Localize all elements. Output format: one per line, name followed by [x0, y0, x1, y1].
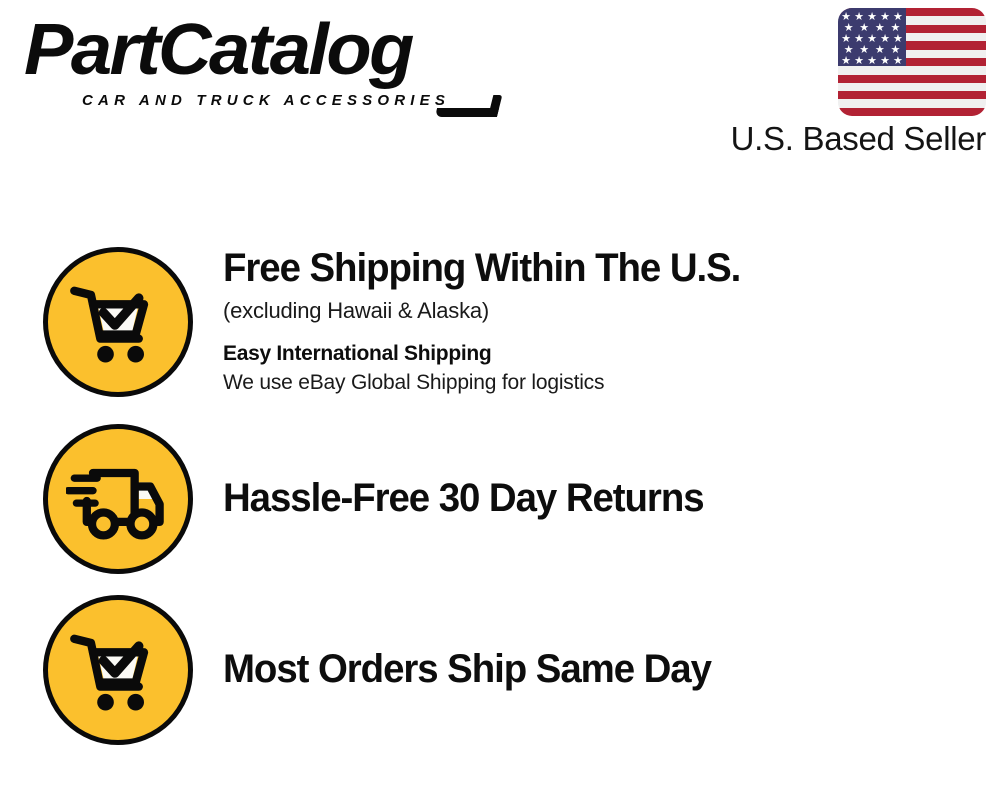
- feature-description: We use eBay Global Shipping for logistic…: [223, 369, 980, 397]
- feature-title: Free Shipping Within The U.S.: [223, 247, 950, 290]
- us-based-seller-badge: ★★★★★ ★★★★ ★★★★★ ★★★★ ★★★★★ U.S. Based S…: [706, 8, 986, 158]
- shopping-cart-check-icon: [66, 618, 170, 722]
- logo-swash-decoration: [435, 108, 499, 117]
- feature-text-block: Free Shipping Within The U.S. (excluding…: [223, 247, 1000, 398]
- feature-text-block: Hassle-Free 30 Day Returns: [223, 477, 1000, 520]
- flag-canton: ★★★★★ ★★★★ ★★★★★ ★★★★ ★★★★★: [838, 8, 906, 66]
- feature-subtitle: Easy International Shipping: [223, 340, 980, 367]
- shopping-cart-check-icon: [66, 270, 170, 374]
- brand-logo[interactable]: PartCatalog CAR AND TRUCK ACCESSORIES: [24, 20, 494, 115]
- feature-row: Most Orders Ship Same Day: [0, 584, 1000, 755]
- us-based-seller-label: U.S. Based Seller: [706, 120, 986, 158]
- us-flag-icon: ★★★★★ ★★★★ ★★★★★ ★★★★ ★★★★★: [838, 8, 986, 116]
- feature-text-block: Most Orders Ship Same Day: [223, 648, 1000, 691]
- page-header: PartCatalog CAR AND TRUCK ACCESSORIES ★★…: [0, 0, 1000, 175]
- feature-row: Hassle-Free 30 Day Returns: [0, 413, 1000, 584]
- logo-tagline: CAR AND TRUCK ACCESSORIES: [82, 92, 450, 109]
- feature-icon-badge: [43, 595, 193, 745]
- feature-title: Hassle-Free 30 Day Returns: [223, 477, 950, 520]
- feature-title: Most Orders Ship Same Day: [223, 648, 950, 691]
- feature-row: Free Shipping Within The U.S. (excluding…: [0, 232, 1000, 412]
- logo-wordmark: PartCatalog: [24, 14, 412, 86]
- flag-star-row: ★★★★★: [838, 56, 906, 67]
- delivery-truck-icon: [66, 447, 170, 551]
- feature-icon-badge: [43, 424, 193, 574]
- feature-icon-badge: [43, 247, 193, 397]
- feature-note: (excluding Hawaii & Alaska): [223, 296, 980, 326]
